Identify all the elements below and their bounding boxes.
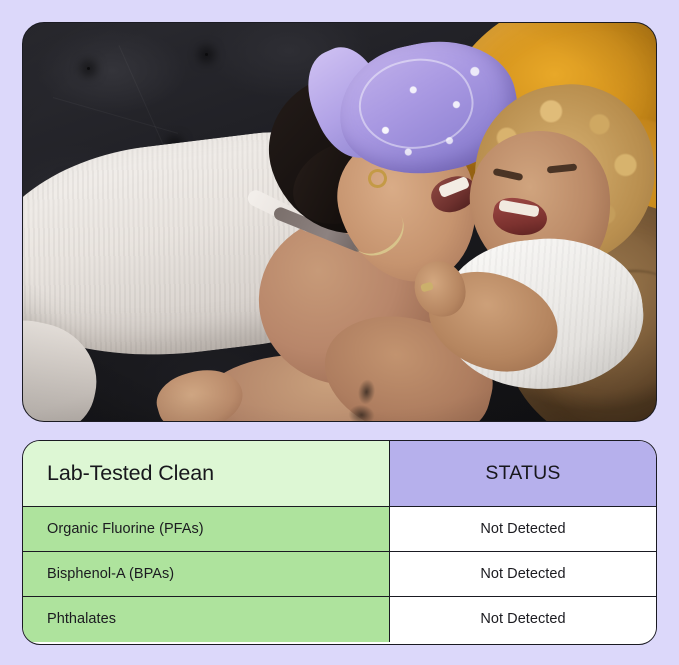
header-cell-name: Lab-Tested Clean <box>23 441 390 506</box>
row-status-cell: Not Detected <box>390 507 656 551</box>
row-name-cell: Bisphenol-A (BPAs) <box>23 552 390 596</box>
table-row: Organic Fluorine (PFAs) Not Detected <box>23 506 656 551</box>
lab-results-table: Lab-Tested Clean STATUS Organic Fluorine… <box>22 440 657 645</box>
status-column-header: STATUS <box>485 462 560 485</box>
status-badge: Not Detected <box>480 521 565 537</box>
couch-tuft <box>205 53 208 56</box>
row-name-cell: Phthalates <box>23 597 390 641</box>
substance-name: Organic Fluorine (PFAs) <box>47 521 204 537</box>
hero-photo <box>22 22 657 422</box>
substance-name: Phthalates <box>47 611 116 627</box>
header-cell-status: STATUS <box>390 441 656 506</box>
table-header-row: Lab-Tested Clean STATUS <box>23 441 656 506</box>
row-status-cell: Not Detected <box>390 597 656 641</box>
status-badge: Not Detected <box>480 611 565 627</box>
table-row: Bisphenol-A (BPAs) Not Detected <box>23 551 656 596</box>
page-root: Lab-Tested Clean STATUS Organic Fluorine… <box>0 0 679 665</box>
table-title: Lab-Tested Clean <box>47 461 214 486</box>
table-row: Phthalates Not Detected <box>23 596 656 641</box>
photo-scene <box>23 23 656 421</box>
status-badge: Not Detected <box>480 566 565 582</box>
row-name-cell: Organic Fluorine (PFAs) <box>23 507 390 551</box>
substance-name: Bisphenol-A (BPAs) <box>47 566 174 582</box>
couch-tuft <box>87 67 90 70</box>
row-status-cell: Not Detected <box>390 552 656 596</box>
